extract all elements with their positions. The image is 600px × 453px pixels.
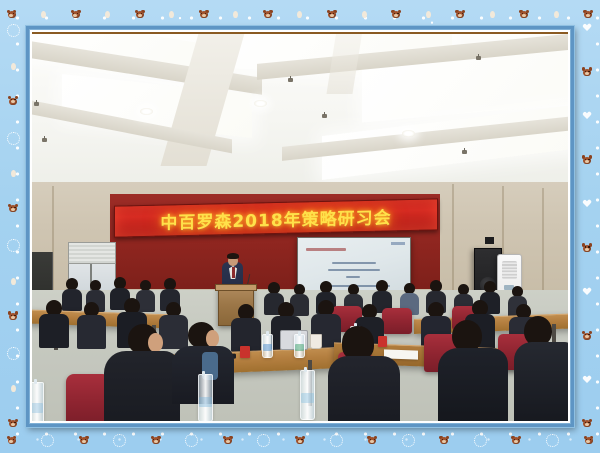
dotted-circle-icon [330,434,343,447]
dotted-circle-icon [7,347,20,360]
blob-ornament-icon [426,11,431,18]
teddy-bear-icon [262,9,273,20]
water-bottle [32,382,44,421]
teddy-bear-icon [6,9,17,20]
blob-ornament-icon [233,11,238,18]
teddy-bear-icon [6,435,17,446]
frame-bear-row-top [6,6,594,22]
dotted-circle-icon [7,24,20,37]
ceiling-downlight-icon [402,130,415,137]
sprinkler-head-icon [288,78,293,82]
water-bottle [294,334,305,358]
teddy-bear-icon [519,9,530,20]
water-bottle [262,334,273,358]
blob-ornament-icon [11,278,16,285]
frame-bear-row-right [579,24,595,429]
dotted-circle-icon [185,434,198,447]
teddy-bear-icon [439,435,450,446]
teddy-bear-icon [583,9,594,20]
heart-icon [583,24,591,32]
blob-ornament-icon [554,11,559,18]
dotted-circle-icon [402,434,415,447]
heart-icon [583,376,591,384]
teddy-bear-icon [367,435,378,446]
teddy-bear-icon [8,203,19,214]
teddy-bear-icon [78,435,89,446]
teddy-bear-icon [583,435,594,446]
wall-mount-bracket [485,237,494,244]
blob-ornament-icon [297,11,302,18]
teddy-bear-icon [8,95,19,106]
window-blinds [68,242,116,264]
dotted-circle-icon [546,434,559,447]
teddy-bear-icon [70,9,81,20]
teddy-bear-icon [582,66,593,77]
blob-ornament-icon [169,11,174,18]
frame-bear-row-left [5,24,21,429]
blob-ornament-icon [11,385,16,392]
ceiling-downlight-icon [140,108,153,115]
heart-icon [583,112,591,120]
sprinkler-head-icon [42,138,47,142]
blob-ornament-icon [490,11,495,18]
ceiling-downlight-icon [254,100,267,107]
framed-photo: 中百罗森2018年策略研习会 [0,0,600,453]
red-box [378,336,387,347]
heart-icon [583,288,591,296]
teddy-bear-icon [198,9,209,20]
chair [382,308,412,334]
dotted-circle-icon [474,434,487,447]
teddy-bear-icon [150,435,161,446]
sprinkler-head-icon [322,114,327,118]
teddy-bear-icon [326,9,337,20]
dotted-circle-icon [41,434,54,447]
sprinkler-head-icon [476,56,481,60]
podium-top [215,284,257,291]
ceiling [32,34,568,186]
teddy-bear-icon [134,9,145,20]
dotted-circle-icon [113,434,126,447]
teddy-bear-icon [582,418,593,429]
dotted-circle-icon [257,434,270,447]
teddy-bear-icon [295,435,306,446]
teddy-bear-icon [8,418,19,429]
teddy-bear-icon [455,9,466,20]
teddy-bear-icon [222,435,233,446]
photograph: 中百罗森2018年策略研习会 [32,32,568,421]
blob-ornament-icon [11,170,16,177]
teddy-bear-icon [582,242,593,253]
teddy-bear-icon [8,310,19,321]
blob-ornament-icon [105,11,110,18]
blob-ornament-icon [41,11,46,18]
teddy-bear-icon [511,435,522,446]
teddy-bear-icon [391,9,402,20]
teddy-bear-icon [582,154,593,165]
teddy-bear-icon [582,330,593,341]
paper-cup [310,334,322,349]
blob-ornament-icon [362,11,367,18]
slide-logo [391,242,405,245]
dotted-circle-icon [7,239,20,252]
frame-bear-row-bottom [6,432,594,448]
dotted-circle-icon [7,132,20,145]
red-box [240,346,250,358]
banner-text: 中百罗森2018年策略研习会 [160,203,391,233]
sprinkler-head-icon [34,102,39,106]
heart-icon [583,200,591,208]
blob-ornament-icon [11,63,16,70]
sprinkler-head-icon [462,150,467,154]
water-bottle [300,370,315,420]
water-bottle [198,374,213,421]
